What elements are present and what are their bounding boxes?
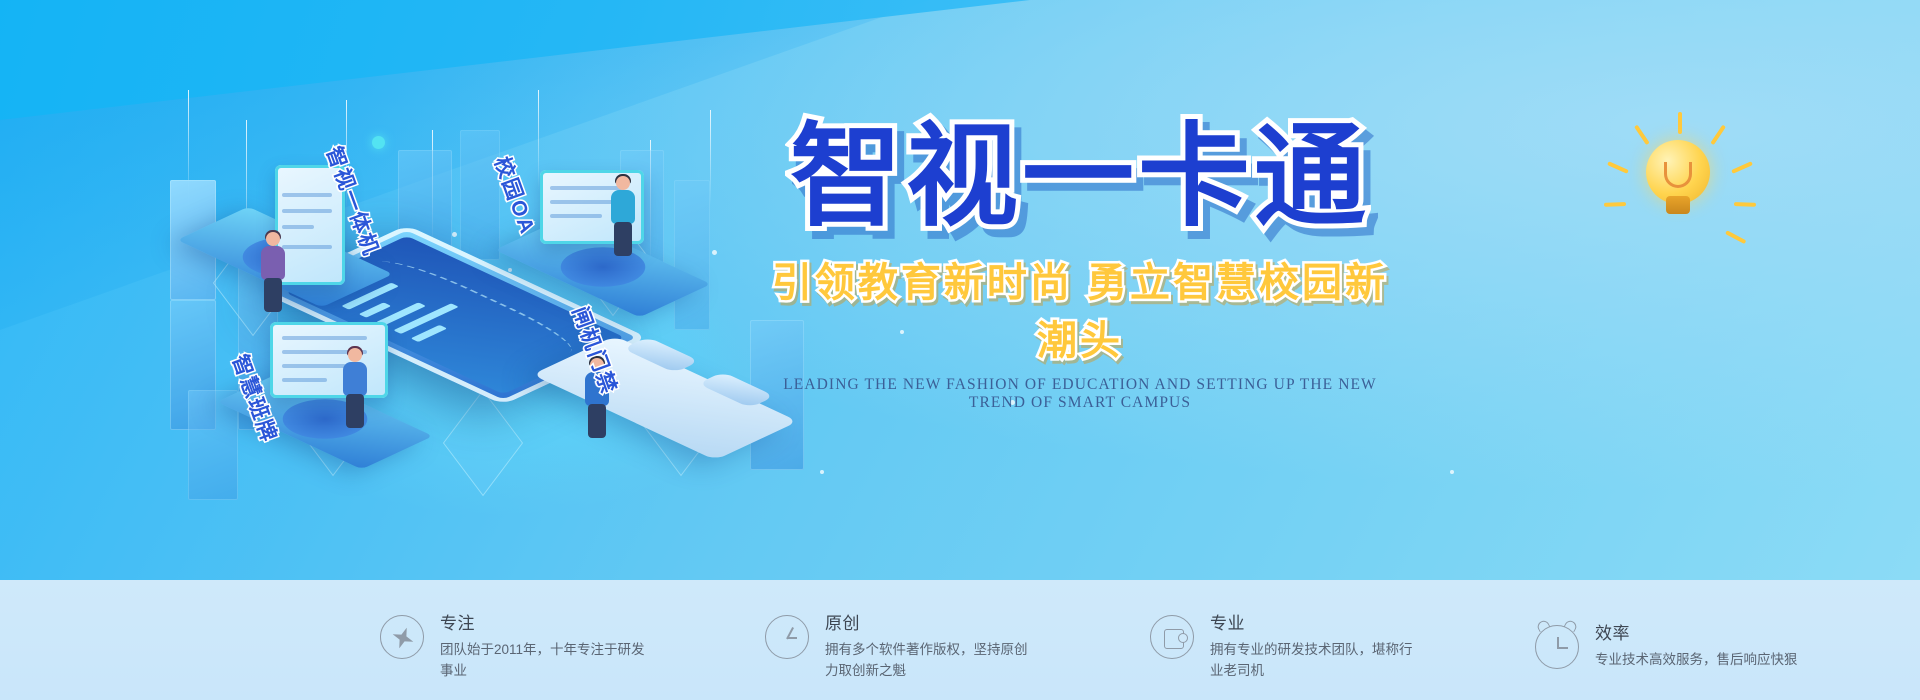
bulb-ray: [1604, 202, 1626, 207]
building: [674, 180, 710, 330]
hero-tagline-english: LEADING THE NEW FASHION OF EDUCATION AND…: [770, 376, 1390, 412]
device-line: [550, 214, 602, 218]
feature-text: 专业 拥有专业的研发技术团队，堪称行业老司机: [1210, 599, 1425, 682]
person-figure: [340, 348, 370, 428]
feature-item-professional: 专业 拥有专业的研发技术团队，堪称行业老司机: [1150, 599, 1535, 682]
alarm-bell-right: [1564, 619, 1579, 633]
lightbulb-icon: [1620, 118, 1740, 238]
device-line: [282, 225, 314, 229]
device-line: [282, 193, 332, 197]
person-body: [611, 190, 635, 224]
feature-title: 专业: [1210, 609, 1425, 634]
chart-bar: [359, 302, 392, 317]
gate-wing: [623, 337, 700, 373]
isometric-illustration: 智视一体机 校园OA 智慧班牌 闸机门禁: [150, 90, 830, 490]
bulb-ray: [1710, 125, 1726, 145]
feature-item-efficiency: 效率 专业技术高效服务，售后响应快狠: [1535, 609, 1920, 671]
person-legs: [614, 222, 632, 256]
feature-desc: 团队始于2011年，十年专注于研发事业: [440, 640, 655, 682]
building: [460, 130, 500, 260]
puzzle-icon: [1150, 615, 1194, 659]
light-line: [538, 90, 539, 190]
feature-item-original: 原创 拥有多个软件著作版权，坚持原创力取创新之魁: [765, 599, 1150, 682]
feature-desc: 专业技术高效服务，售后响应快狠: [1595, 650, 1798, 671]
light-line: [710, 110, 711, 205]
feature-text: 效率 专业技术高效服务，售后响应快狠: [1595, 609, 1798, 671]
particle: [1450, 470, 1454, 474]
bulb-ray: [1734, 202, 1756, 207]
feature-item-focus: 专注 团队始于2011年，十年专注于研发事业: [0, 599, 765, 682]
person-head: [348, 348, 362, 362]
feature-text: 原创 拥有多个软件著作版权，坚持原创力取创新之魁: [825, 599, 1040, 682]
feature-bar: 专注 团队始于2011年，十年专注于研发事业 原创 拥有多个软件著作版权，坚持原…: [0, 580, 1920, 700]
feature-desc: 拥有多个软件著作版权，坚持原创力取创新之魁: [825, 640, 1040, 682]
feature-text: 专注 团队始于2011年，十年专注于研发事业: [440, 599, 655, 682]
chart-bar: [411, 325, 448, 342]
wireframe-diamond: [443, 390, 523, 496]
class-board-screen: [270, 322, 388, 398]
person-legs: [264, 278, 282, 312]
alarm-clock-icon: [1535, 625, 1579, 669]
page-title: 智视一卡通: [770, 120, 1390, 234]
feature-title: 专注: [440, 609, 655, 634]
hero-banner: 智视一体机 校园OA 智慧班牌 闸机门禁 智视一卡通 引领教育新时尚 勇立智慧校…: [0, 0, 1920, 700]
device-line: [282, 378, 327, 382]
compass-icon: [380, 615, 424, 659]
person-figure: [608, 176, 638, 256]
device-line: [282, 209, 332, 213]
device-line: [282, 245, 332, 249]
hero-subtitle: 引领教育新时尚 勇立智慧校园新潮头: [770, 250, 1390, 366]
feature-title: 效率: [1595, 619, 1798, 644]
clock-icon: [765, 615, 809, 659]
bulb-base: [1666, 196, 1690, 214]
feature-title: 原创: [825, 609, 1040, 634]
person-legs: [346, 394, 364, 428]
device-line: [282, 336, 367, 340]
person-body: [261, 246, 285, 280]
feature-desc: 拥有专业的研发技术团队，堪称行业老司机: [1210, 640, 1425, 682]
person-legs: [588, 404, 606, 438]
person-body: [343, 362, 367, 396]
bulb-ray: [1678, 112, 1682, 134]
device-line: [282, 364, 346, 368]
person-figure: [258, 232, 288, 312]
hero-text-block: 智视一卡通 引领教育新时尚 勇立智慧校园新潮头 LEADING THE NEW …: [770, 120, 1390, 412]
alarm-bell-left: [1536, 619, 1551, 633]
bulb-ray: [1634, 125, 1650, 145]
person-head: [266, 232, 280, 246]
person-head: [616, 176, 630, 190]
